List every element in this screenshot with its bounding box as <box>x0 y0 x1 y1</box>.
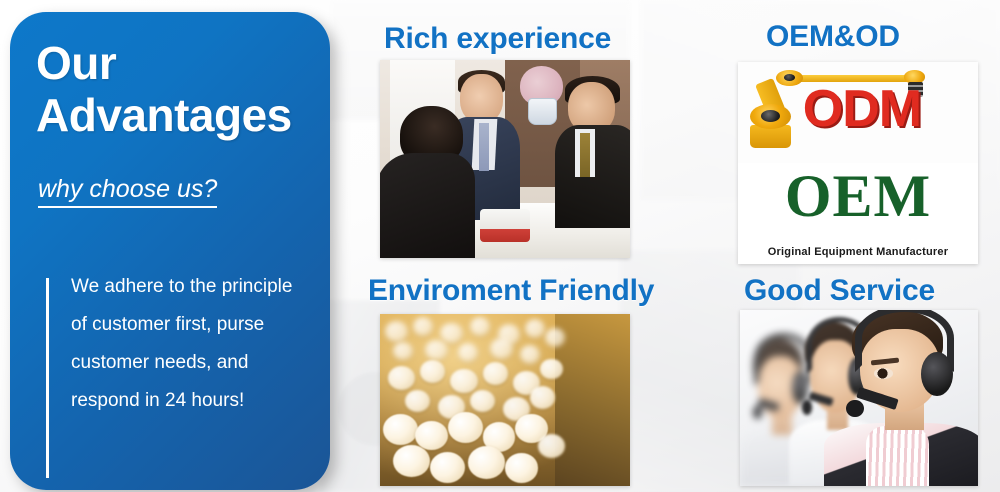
oem-caption: Original Equipment Manufacturer <box>738 246 978 258</box>
meeting-food-containers <box>480 209 530 243</box>
meeting-person-right-tie <box>580 133 590 177</box>
panel-title-line1: Our <box>36 37 116 89</box>
photo-business-meeting <box>380 60 630 258</box>
photo-cotton-field <box>380 314 630 486</box>
photo-oem-odm-logo: ODM OEM Original Equipment Manufacturer <box>738 62 978 264</box>
odm-zone: ODM <box>738 62 978 167</box>
heading-enviroment-friendly: Enviroment Friendly <box>368 274 654 308</box>
heading-rich-experience: Rich experience <box>384 22 611 56</box>
cotton-scene <box>380 314 630 486</box>
odm-wordmark: ODM <box>803 83 921 135</box>
meeting-person-center-tie <box>479 123 489 171</box>
oem-zone: OEM Original Equipment Manufacturer <box>738 163 978 264</box>
advantages-banner: Our Advantages why choose us? We adhere … <box>0 0 1000 492</box>
robot-shoulder-joint-icon <box>750 104 791 129</box>
meeting-flower-pot <box>528 98 558 126</box>
panel-body-text: We adhere to the principle of customer f… <box>49 268 311 476</box>
service-scene <box>740 310 978 486</box>
call-center-agent-front <box>835 310 973 486</box>
photo-call-center <box>740 310 978 486</box>
heading-good-service: Good Service <box>744 274 935 308</box>
oem-logo-card: ODM OEM Original Equipment Manufacturer <box>738 62 978 264</box>
page-title: Our Advantages <box>36 38 308 142</box>
advantages-panel: Our Advantages why choose us? We adhere … <box>10 12 330 490</box>
panel-subtitle: why choose us? <box>38 176 217 209</box>
panel-title-line2: Advantages <box>36 90 308 142</box>
meeting-person-left-body <box>380 153 475 258</box>
cotton-field-row <box>555 314 630 486</box>
meeting-scene <box>380 60 630 258</box>
oem-wordmark: OEM <box>738 166 978 226</box>
meeting-person-center-head <box>460 74 503 124</box>
panel-body-wrap: We adhere to the principle of customer f… <box>46 268 312 476</box>
robot-elbow-joint-icon <box>776 70 802 86</box>
heading-oem-od: OEM&OD <box>766 20 900 54</box>
